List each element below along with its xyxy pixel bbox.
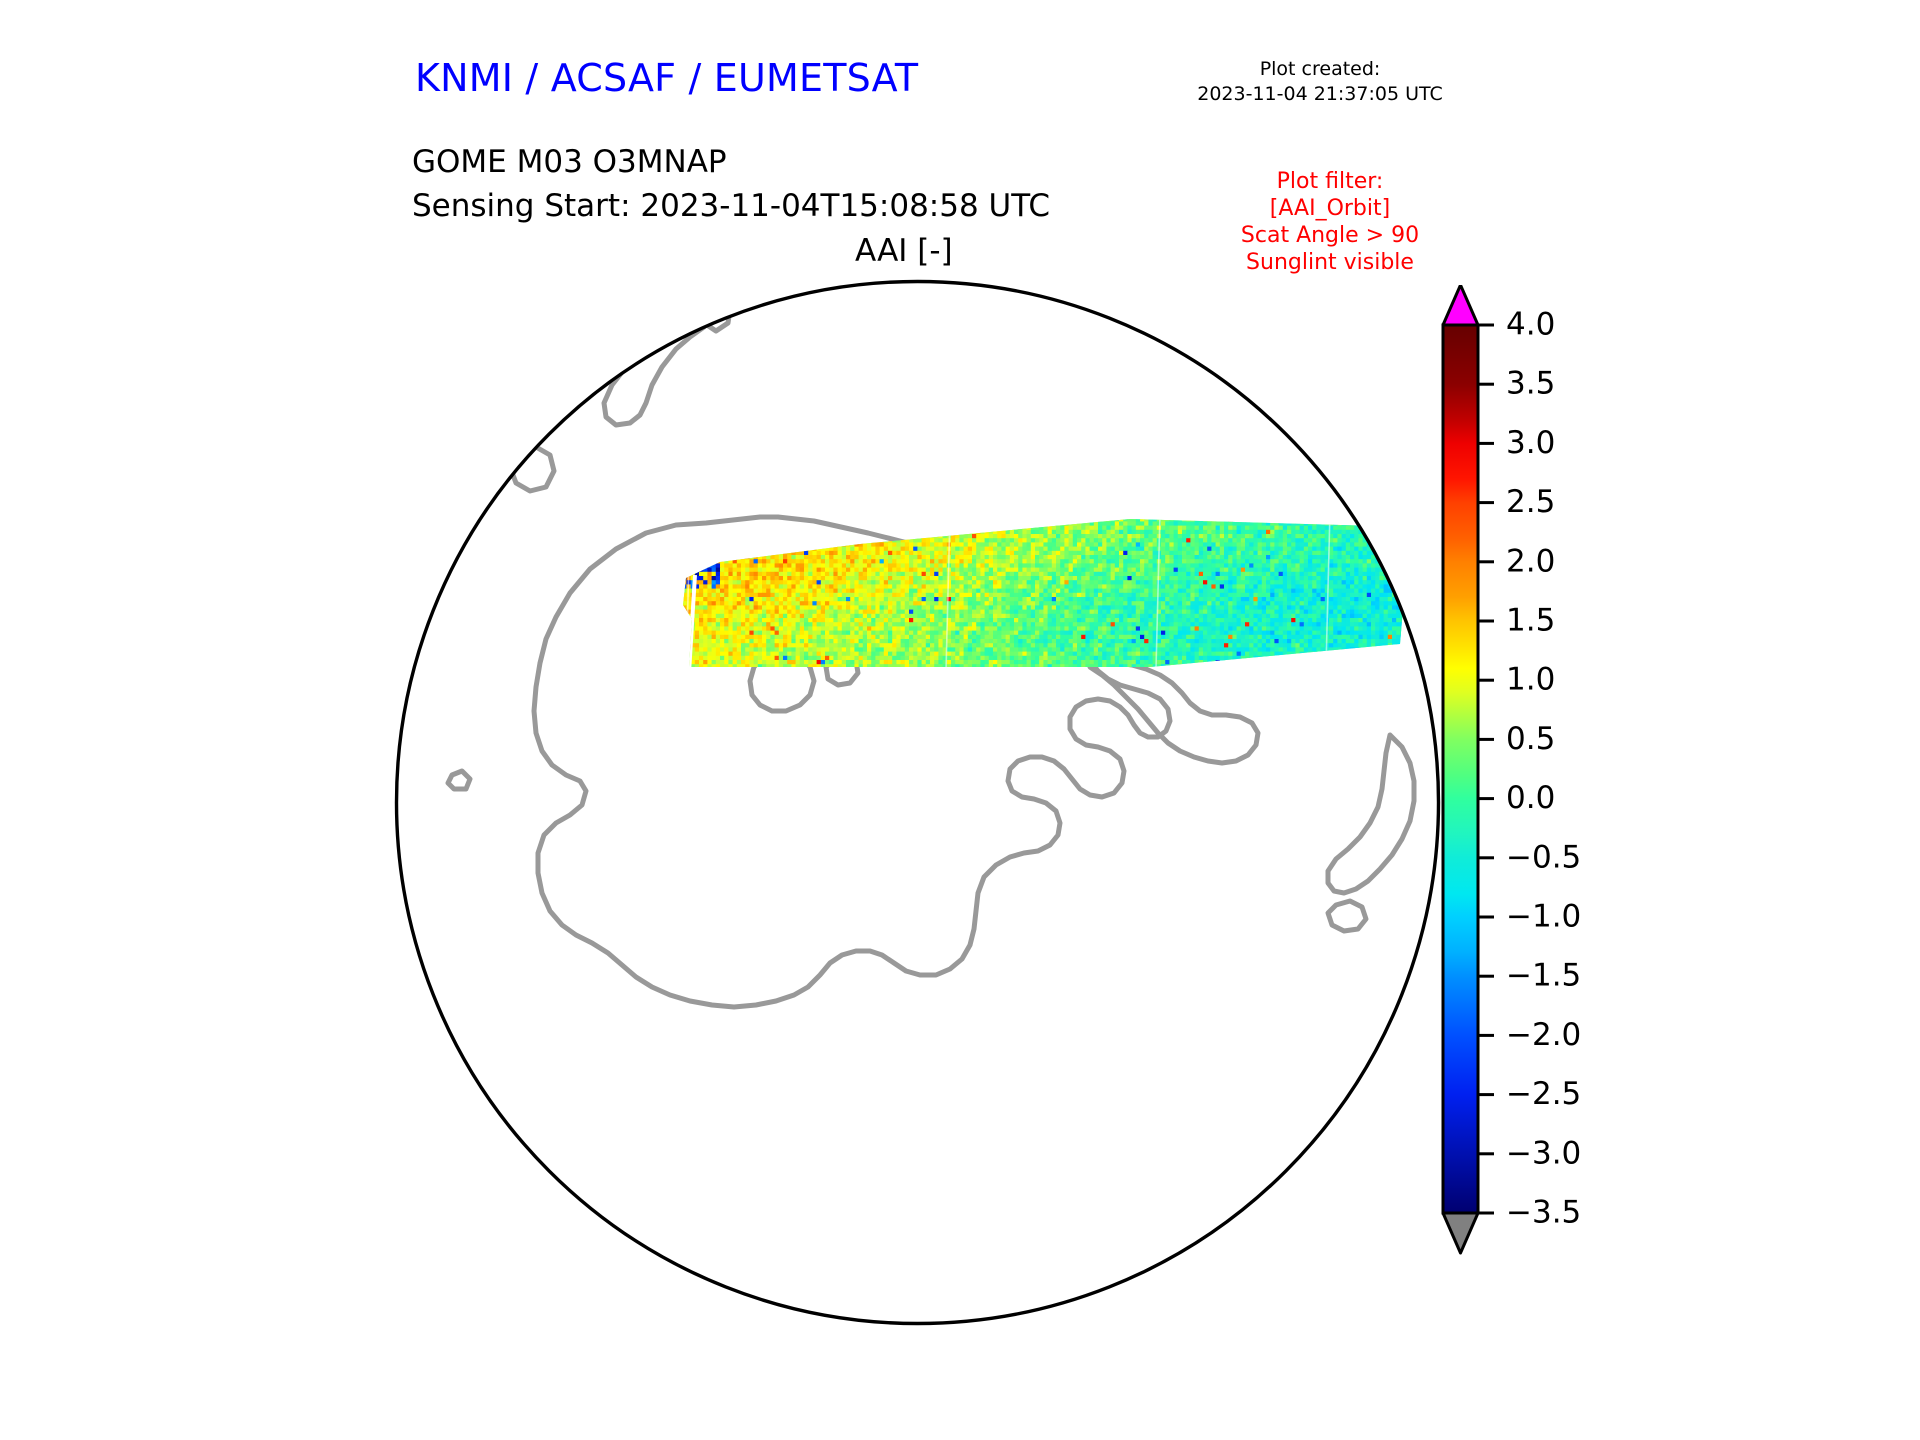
colorbar-tick-label: 2.0	[1506, 543, 1555, 579]
map-svg	[390, 275, 1445, 1330]
globe-disc	[397, 282, 1439, 1324]
colorbar-tick-label: 1.0	[1506, 662, 1555, 698]
colorbar-under-arrow	[1443, 1213, 1478, 1253]
colorbar-ticks: 4.03.53.02.52.01.51.00.50.0−0.5−1.0−1.5−…	[1478, 307, 1581, 1231]
plot-created-timestamp: 2023-11-04 21:37:05 UTC	[1170, 82, 1470, 107]
colorbar-tick-label: 2.5	[1506, 484, 1555, 520]
organisation-title: KNMI / ACSAF / EUMETSAT	[415, 56, 918, 100]
quantity-title: AAI [-]	[855, 233, 953, 269]
instrument-line: GOME M03 O3MNAP	[412, 144, 727, 180]
colorbar-tick-label: 3.5	[1506, 366, 1555, 402]
colorbar-tick-label: −3.5	[1506, 1195, 1581, 1231]
filter-line-3: Sunglint visible	[1190, 249, 1470, 276]
colorbar-tick-label: −1.5	[1506, 958, 1581, 994]
coastline-australia-tip	[448, 417, 500, 443]
colorbar-tick-label: 3.0	[1506, 425, 1555, 461]
colorbar-over-arrow	[1443, 285, 1478, 325]
colorbar-tick-label: −2.5	[1506, 1076, 1581, 1112]
filter-line-1: [AAI_Orbit]	[1190, 195, 1470, 222]
colorbar-tick-label: 4.0	[1506, 307, 1555, 343]
colorbar-svg: 4.03.53.02.52.01.51.00.50.0−0.5−1.0−1.5−…	[1430, 285, 1760, 1345]
plot-created-block: Plot created: 2023-11-04 21:37:05 UTC	[1170, 57, 1470, 107]
colorbar-tick-label: −2.0	[1506, 1017, 1581, 1053]
filter-line-0: Plot filter:	[1190, 168, 1470, 195]
colorbar-tick-label: −1.0	[1506, 899, 1581, 935]
colorbar-tick-label: 0.0	[1506, 780, 1555, 816]
sensing-start-line: Sensing Start: 2023-11-04T15:08:58 UTC	[412, 188, 1050, 224]
colorbar[interactable]: 4.03.53.02.52.01.51.00.50.0−0.5−1.0−1.5−…	[1430, 285, 1760, 1345]
plot-canvas: KNMI / ACSAF / EUMETSAT Plot created: 20…	[0, 0, 1920, 1440]
plot-created-label: Plot created:	[1170, 57, 1470, 82]
map-area	[390, 275, 1445, 1330]
colorbar-gradient-bar	[1443, 325, 1478, 1213]
filter-line-2: Scat Angle > 90	[1190, 222, 1470, 249]
plot-filter-block: Plot filter: [AAI_Orbit] Scat Angle > 90…	[1190, 168, 1470, 276]
colorbar-tick-label: 1.5	[1506, 603, 1555, 639]
colorbar-tick-label: 0.5	[1506, 721, 1555, 757]
colorbar-tick-label: −0.5	[1506, 839, 1581, 875]
colorbar-tick-label: −3.0	[1506, 1135, 1581, 1171]
